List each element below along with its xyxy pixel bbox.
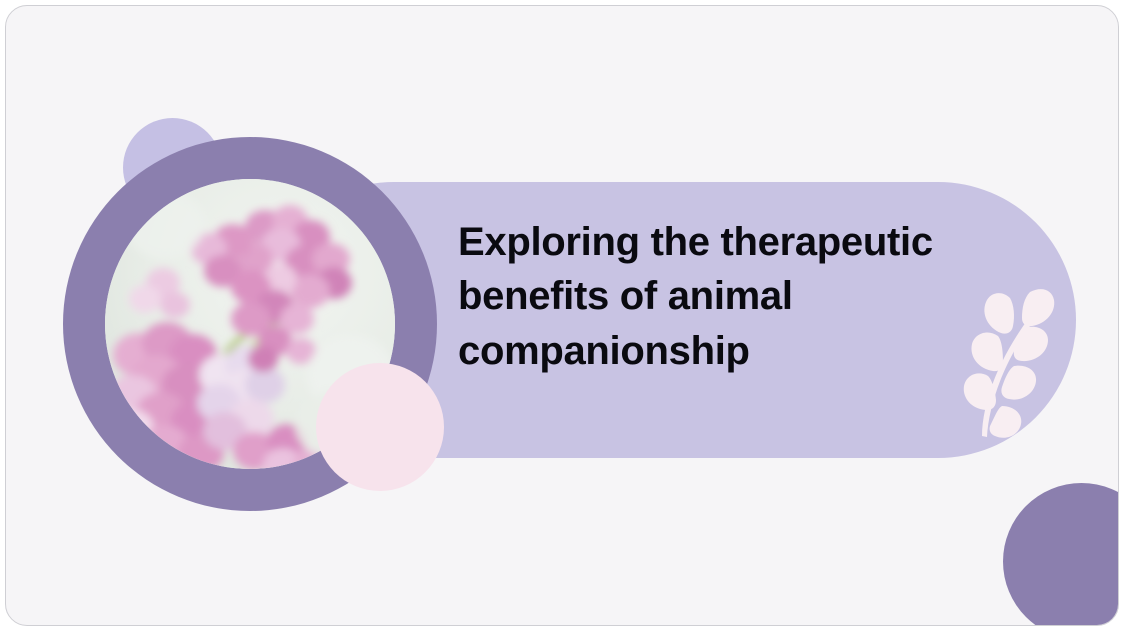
decorative-circle-bottom-right bbox=[1003, 483, 1119, 626]
page-title: Exploring the therapeutic benefits of an… bbox=[458, 215, 1018, 378]
slide-canvas: Exploring the therapeutic benefits of an… bbox=[5, 5, 1119, 626]
decorative-circle-pink bbox=[316, 363, 444, 491]
